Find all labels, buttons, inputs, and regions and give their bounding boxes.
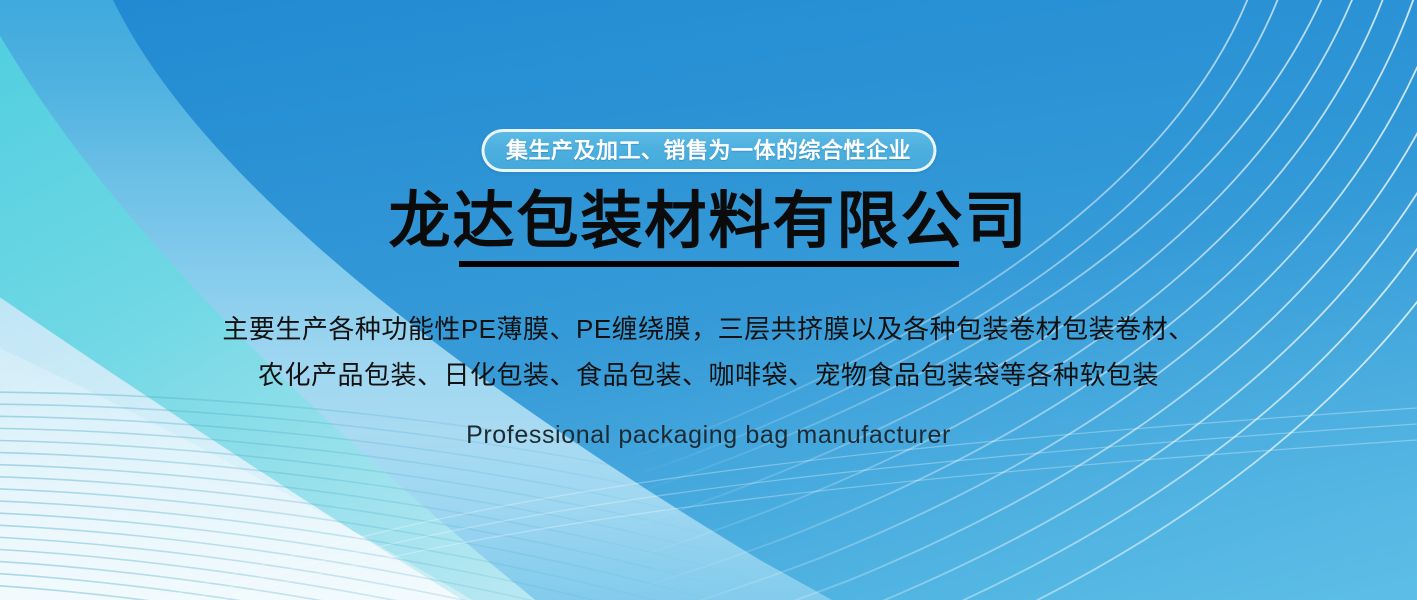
- banner-content: 集生产及加工、销售为一体的综合性企业 龙达包装材料有限公司 主要生产各种功能性P…: [0, 0, 1417, 600]
- company-title: 龙达包装材料有限公司: [0, 186, 1417, 257]
- english-tagline: Professional packaging bag manufacturer: [0, 421, 1417, 450]
- title-underline-rule: [459, 261, 959, 267]
- company-description: 主要生产各种功能性PE薄膜、PE缠绕膜，三层共挤膜以及各种包装卷材包装卷材、 农…: [0, 306, 1417, 398]
- description-line-2: 农化产品包装、日化包装、食品包装、咖啡袋、宠物食品包装袋等各种软包装: [0, 352, 1417, 398]
- tagline-badge-label: 集生产及加工、销售为一体的综合性企业: [506, 140, 911, 162]
- background-decoration: [0, 0, 1417, 600]
- description-line-1: 主要生产各种功能性PE薄膜、PE缠绕膜，三层共挤膜以及各种包装卷材包装卷材、: [0, 306, 1417, 352]
- promo-banner: 集生产及加工、销售为一体的综合性企业 龙达包装材料有限公司 主要生产各种功能性P…: [0, 0, 1417, 600]
- tagline-badge[interactable]: 集生产及加工、销售为一体的综合性企业: [481, 129, 936, 172]
